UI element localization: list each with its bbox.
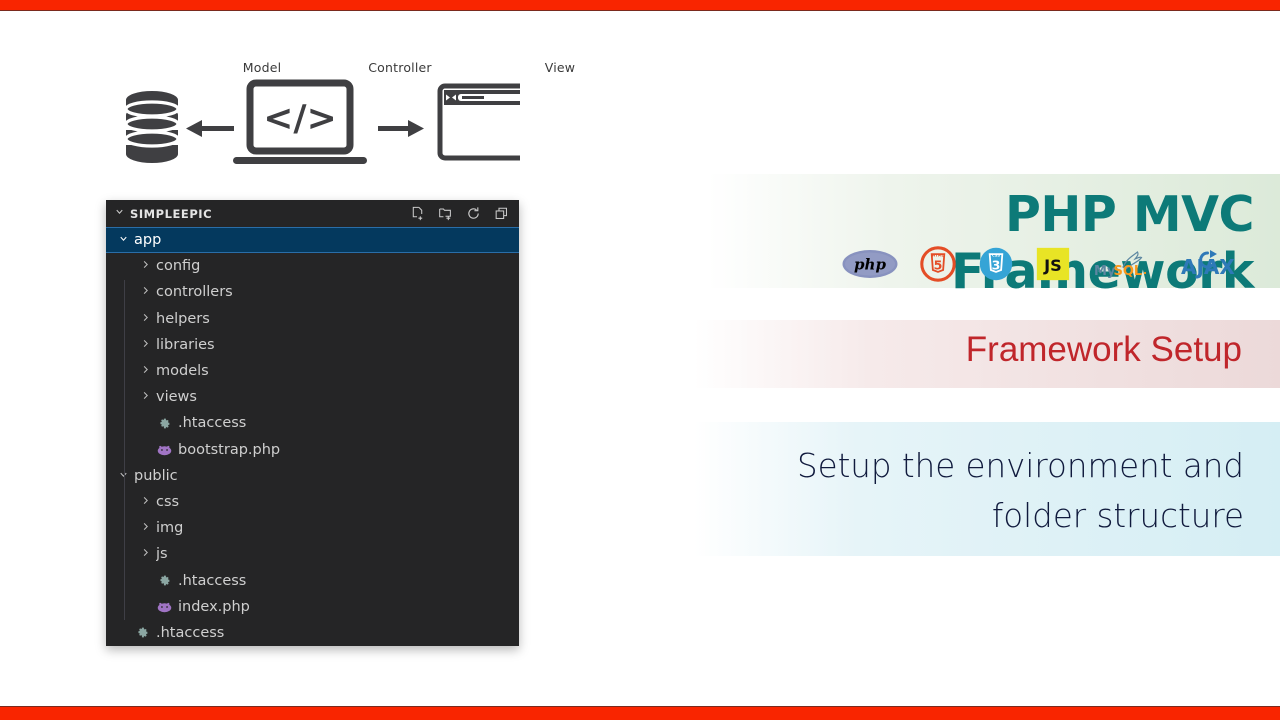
php-file-icon xyxy=(156,444,173,456)
tree-folder-js[interactable]: js xyxy=(106,541,519,567)
tree-item-label: bootstrap.php xyxy=(178,442,280,458)
tree-item-label: views xyxy=(156,389,197,405)
mysql-logo: My SQL xyxy=(1092,247,1158,281)
tree-item-label: libraries xyxy=(156,337,215,353)
svg-text:SQL: SQL xyxy=(1114,264,1143,279)
chevron-down-icon[interactable] xyxy=(114,206,125,220)
explorer-header[interactable]: SIMPLEEPIC xyxy=(106,200,519,227)
tree-item-label: index.php xyxy=(178,599,250,615)
tree-file-htaccess[interactable]: .htaccess xyxy=(106,620,519,646)
htaccess-gear-icon xyxy=(156,574,173,587)
mvc-view-label: View xyxy=(500,60,620,75)
refresh-icon[interactable] xyxy=(466,206,481,221)
title-band: PHP MVC Framework php 5 HTML xyxy=(708,174,1280,288)
svg-text:php: php xyxy=(854,256,886,274)
svg-text:HTML: HTML xyxy=(932,253,944,257)
chevron-right-icon[interactable] xyxy=(138,390,153,404)
svg-text:CSS: CSS xyxy=(992,253,1000,257)
css3-logo: 3 CSS xyxy=(978,246,1014,282)
tree-item-label: img xyxy=(156,520,183,536)
svg-text:JS: JS xyxy=(1043,256,1062,275)
tree-file-index-php[interactable]: index.php xyxy=(106,594,519,620)
tree-item-label: css xyxy=(156,494,179,510)
page-subtitle: Framework Setup xyxy=(694,330,1242,370)
new-folder-icon[interactable] xyxy=(438,206,453,221)
tree-file-bootstrap-php[interactable]: bootstrap.php xyxy=(106,437,519,463)
new-file-icon[interactable] xyxy=(410,206,425,221)
chevron-right-icon[interactable] xyxy=(138,259,153,273)
ajax-logo: AJAX xyxy=(1180,247,1258,281)
chevron-right-icon[interactable] xyxy=(138,521,153,535)
code-glyph: </> xyxy=(263,98,336,139)
tree-item-label: helpers xyxy=(156,311,210,327)
tree-folder-controllers[interactable]: controllers xyxy=(106,279,519,305)
tree-item-label: .htaccess xyxy=(178,573,246,589)
file-explorer-panel[interactable]: SIMPLEEPIC xyxy=(106,200,519,646)
tree-indent-guide xyxy=(124,489,125,620)
javascript-logo: JS xyxy=(1036,247,1070,281)
tech-logo-strip: php 5 HTML 3 CSS xyxy=(842,246,1258,282)
tree-file-htaccess[interactable]: .htaccess xyxy=(106,567,519,593)
tree-folder-libraries[interactable]: libraries xyxy=(106,332,519,358)
tree-folder-views[interactable]: views xyxy=(106,384,519,410)
tree-item-label: config xyxy=(156,258,200,274)
tree-folder-public[interactable]: public xyxy=(106,463,519,489)
explorer-actions[interactable] xyxy=(410,206,513,221)
collapse-all-icon[interactable] xyxy=(494,206,509,221)
php-logo: php xyxy=(842,249,898,279)
tree-file-htaccess[interactable]: .htaccess xyxy=(106,410,519,436)
arrow-right-icon xyxy=(378,120,424,137)
tree-folder-models[interactable]: models xyxy=(106,358,519,384)
html5-logo: 5 HTML xyxy=(920,246,956,282)
chevron-right-icon[interactable] xyxy=(138,547,153,561)
tree-indent-guide xyxy=(124,280,125,490)
svg-text:5: 5 xyxy=(934,257,943,272)
chevron-right-icon[interactable] xyxy=(138,338,153,352)
file-tree[interactable]: appconfigcontrollershelperslibrariesmode… xyxy=(106,227,519,646)
chevron-right-icon[interactable] xyxy=(138,364,153,378)
tree-item-label: .htaccess xyxy=(156,625,224,641)
chevron-down-icon[interactable] xyxy=(116,233,131,247)
page-description: Setup the environment and folder structu… xyxy=(734,442,1244,541)
bottom-accent-bar xyxy=(0,706,1280,720)
mvc-diagram-graphics: </> xyxy=(110,76,520,181)
top-accent-bar xyxy=(0,0,1280,11)
description-band: Setup the environment and folder structu… xyxy=(694,422,1280,556)
svg-text:3: 3 xyxy=(992,257,1001,272)
php-file-icon xyxy=(156,601,173,613)
tree-item-label: js xyxy=(156,546,168,562)
htaccess-gear-icon xyxy=(156,417,173,430)
tree-item-label: app xyxy=(134,232,161,248)
workspace-name: SIMPLEEPIC xyxy=(130,207,212,221)
chevron-right-icon[interactable] xyxy=(138,312,153,326)
slide-canvas: Model Controller View xyxy=(0,0,1280,720)
page-title: PHP MVC Framework xyxy=(708,186,1254,300)
tree-folder-img[interactable]: img xyxy=(106,515,519,541)
browser-window-icon xyxy=(440,86,520,158)
tree-item-label: public xyxy=(134,468,178,484)
tree-folder-helpers[interactable]: helpers xyxy=(106,306,519,332)
mvc-controller-label: Controller xyxy=(340,60,460,75)
tree-item-label: controllers xyxy=(156,284,233,300)
tree-item-label: models xyxy=(156,363,209,379)
mvc-diagram: Model Controller View xyxy=(110,52,520,177)
subtitle-band: Framework Setup xyxy=(694,320,1280,388)
tree-item-label: .htaccess xyxy=(178,415,246,431)
arrow-left-icon xyxy=(186,120,234,137)
htaccess-gear-icon xyxy=(134,626,151,639)
tree-folder-config[interactable]: config xyxy=(106,253,519,279)
chevron-right-icon[interactable] xyxy=(138,495,153,509)
mvc-model-label: Model xyxy=(220,60,304,75)
svg-text:My: My xyxy=(1094,264,1116,279)
tree-folder-css[interactable]: css xyxy=(106,489,519,515)
chevron-right-icon[interactable] xyxy=(138,285,153,299)
tree-folder-app[interactable]: app xyxy=(106,227,519,253)
